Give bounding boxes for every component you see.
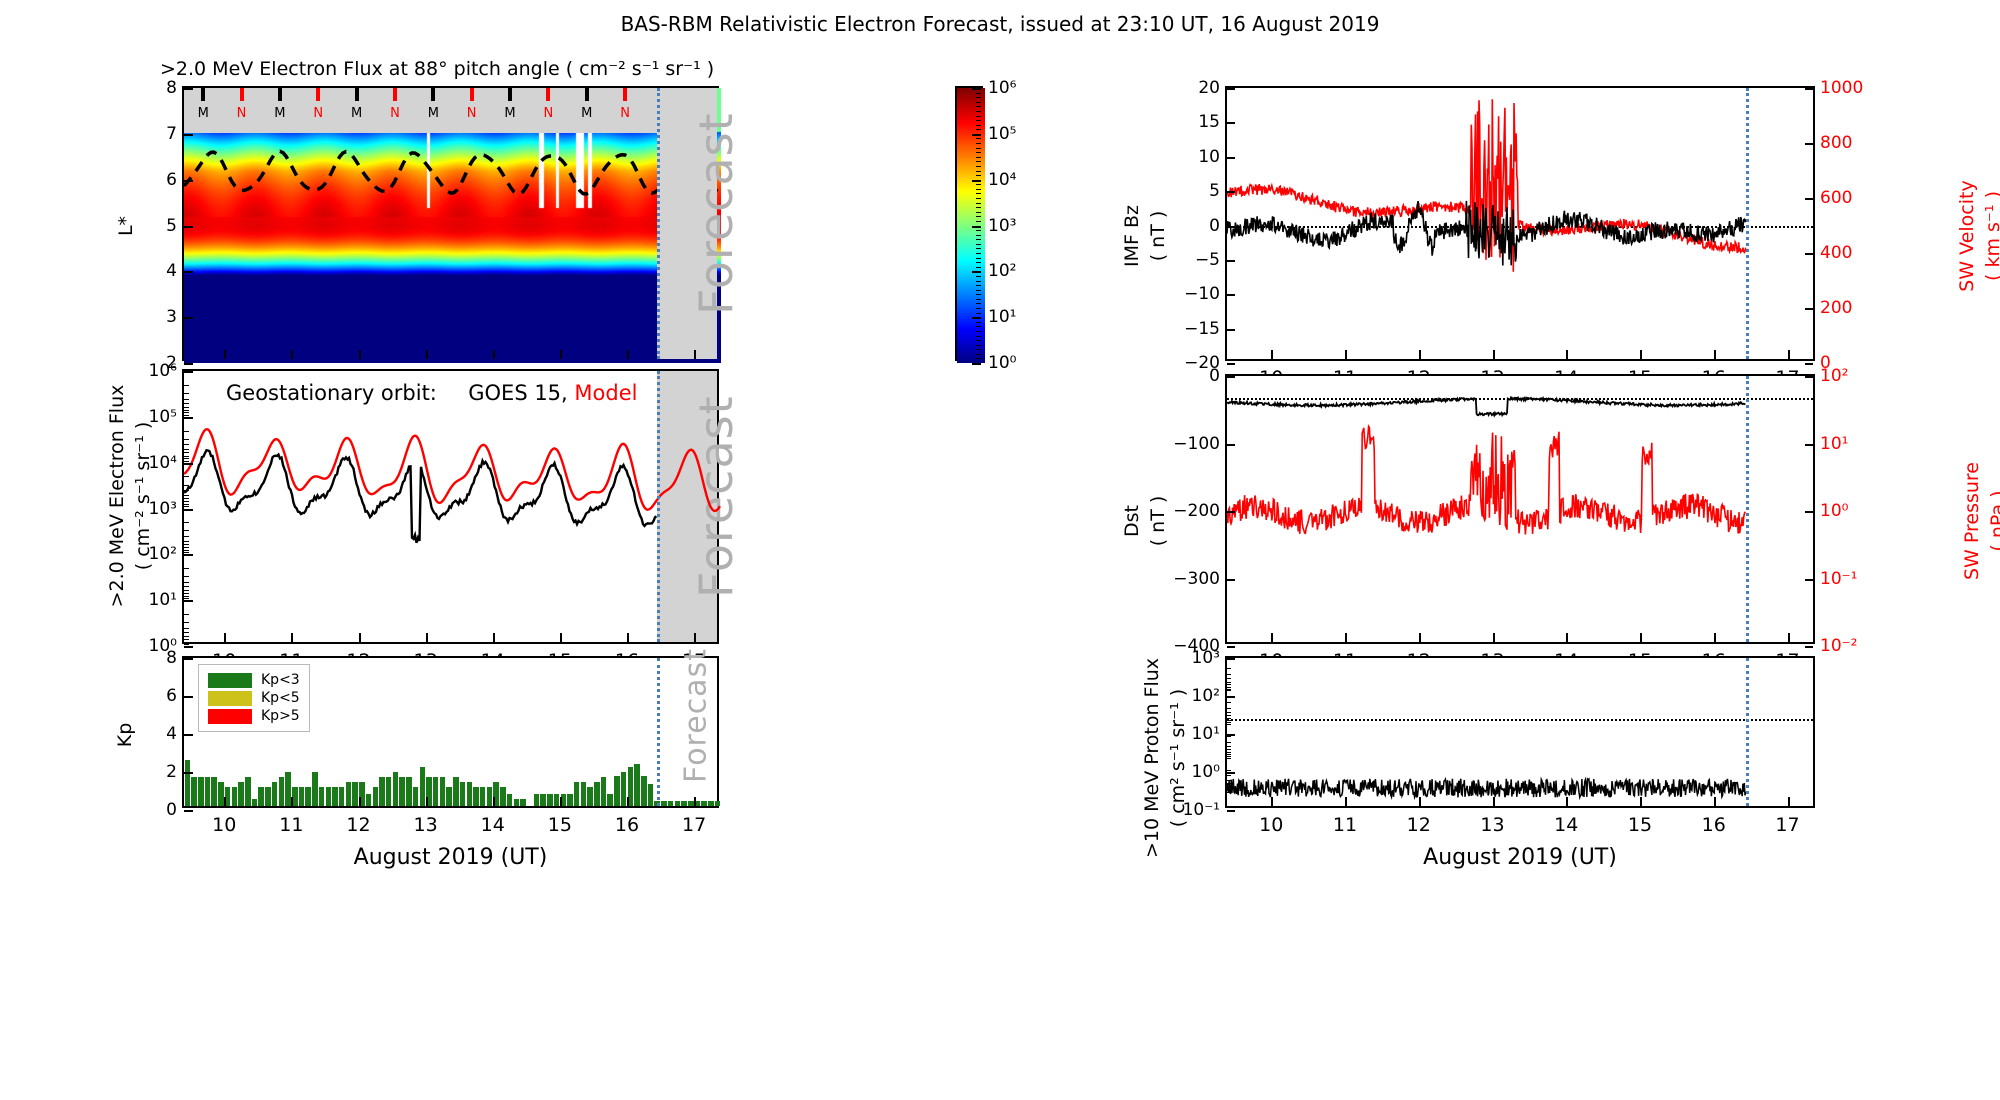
axis-tick-label: 10¹: [988, 307, 1016, 327]
kp-bar: [668, 801, 674, 806]
sw-velocity-axis-label-line2: ( km s⁻¹ ): [1980, 136, 2000, 336]
imf-bz-curves: [1227, 88, 1817, 363]
kp-bar: [352, 782, 358, 806]
imf-bz-axis-label-line2: ( nT ): [1145, 136, 1171, 336]
axis-tick-label: 16: [615, 814, 639, 836]
sw-pressure-axis-label-line2: ( nPa ): [1985, 421, 2000, 621]
axis-tick-label: 10²: [1820, 366, 1848, 386]
kp-bar: [205, 777, 211, 806]
forecast-divider-proton: [1746, 658, 1749, 806]
sw-velocity-axis-label: SW Velocity ( km s⁻¹ ): [1954, 136, 2000, 336]
imf-bz-axis-label-line1: IMF Bz: [1119, 136, 1145, 336]
kp-bar: [339, 787, 345, 806]
axis-tick-label: 15: [1198, 112, 1220, 132]
kp-bar: [634, 764, 640, 806]
kp-bar: [218, 782, 224, 806]
axis-tick-label: 10⁰: [988, 353, 1016, 373]
axis-tick-label: 11: [279, 814, 303, 836]
kp-legend: Kp<3 Kp<5 Kp>5: [198, 664, 310, 732]
kp-bar: [547, 794, 553, 806]
axis-tick-label: 0: [1209, 366, 1220, 386]
kp-bar: [252, 799, 258, 806]
kp-bar: [211, 777, 217, 806]
flux-map-title: >2.0 MeV Electron Flux at 88° pitch angl…: [160, 58, 714, 80]
axis-tick-label: 10⁶: [988, 78, 1016, 98]
plasmapause-curve: [184, 88, 721, 363]
kp-bar: [567, 794, 573, 806]
axis-tick-label: 13: [1480, 814, 1504, 836]
axis-tick-label: 17: [1775, 814, 1799, 836]
kp-bar: [621, 772, 627, 806]
kp-bar: [473, 787, 479, 806]
axis-tick-label: 10¹: [1192, 724, 1220, 744]
kp-bar: [386, 777, 392, 806]
imf-bz-axis-label: IMF Bz ( nT ): [1119, 136, 1171, 336]
kp-legend-label-high: Kp>5: [261, 708, 300, 724]
axis-tick-label: 10⁴: [988, 170, 1016, 190]
kp-bar: [312, 772, 318, 806]
geo-flux-axis-label-line1: >2.0 MeV Electron Flux: [104, 336, 130, 656]
kp-bar: [487, 787, 493, 806]
kp-bar: [460, 782, 466, 806]
kp-bar: [245, 777, 251, 806]
page-title: BAS-RBM Relativistic Electron Forecast, …: [0, 12, 2000, 36]
axis-tick-label: 5: [1209, 181, 1220, 201]
kp-bar: [641, 776, 647, 806]
xaxis-label-left: August 2019 (UT): [182, 845, 719, 870]
kp-bar: [191, 777, 197, 806]
axis-tick-label: 12: [1407, 814, 1431, 836]
axis-tick-label: 10⁵: [988, 124, 1016, 144]
axis-tick-label: 10²: [1192, 686, 1220, 706]
proton-flux-panel: 10³10²10¹10⁰10⁻¹1011121314151617: [1225, 656, 1815, 808]
axis-tick-label: 15: [548, 814, 572, 836]
kp-bar: [467, 782, 473, 806]
kp-bar: [520, 799, 526, 806]
axis-tick-label: 10: [1198, 147, 1220, 167]
kp-legend-swatch-mid: [208, 691, 252, 706]
kp-bar: [601, 777, 607, 806]
kp-bar: [366, 794, 372, 806]
kp-bar: [581, 782, 587, 806]
kp-bar: [346, 782, 352, 806]
axis-tick-label: 5: [166, 216, 177, 236]
axis-tick-label: 6: [166, 170, 177, 190]
forecast-divider-imf: [1746, 88, 1749, 359]
imf-bz-panel: 20151050−5−10−15−20100080060040020001011…: [1225, 86, 1815, 361]
kp-bar: [446, 787, 452, 806]
axis-tick-label: 10: [1259, 814, 1283, 836]
kp-bar: [258, 787, 264, 806]
sw-pressure-axis-label-line1: SW Pressure: [1959, 421, 1985, 621]
axis-tick-label: 17: [682, 814, 706, 836]
kp-bar: [406, 777, 412, 806]
axis-tick-label: 10: [212, 814, 236, 836]
kp-bar: [648, 784, 654, 806]
kp-bar: [265, 787, 271, 806]
kp-bar: [534, 794, 540, 806]
axis-tick-label: 4: [166, 724, 177, 744]
axis-tick-label: 800: [1820, 133, 1852, 153]
axis-tick-label: 13: [414, 814, 438, 836]
kp-bar: [453, 777, 459, 806]
axis-tick-label: 15: [1628, 814, 1652, 836]
kp-legend-label-low: Kp<3: [261, 672, 300, 688]
kp-legend-swatch-low: [208, 673, 252, 688]
kp-bar: [607, 794, 613, 806]
kp-bar: [238, 782, 244, 806]
sw-velocity-axis-label-line1: SW Velocity: [1954, 136, 1980, 336]
kp-bar: [500, 787, 506, 806]
kp-bar: [332, 787, 338, 806]
colorbar: 10⁶10⁵10⁴10³10²10¹10⁰: [955, 86, 983, 361]
axis-tick-label: 11: [1333, 814, 1357, 836]
axis-tick-label: −15: [1184, 319, 1220, 339]
kp-bar: [587, 787, 593, 806]
axis-tick-label: 600: [1820, 188, 1852, 208]
kp-bar: [614, 776, 620, 806]
kp-legend-label-mid: Kp<5: [261, 690, 300, 706]
kp-bar: [420, 767, 426, 806]
axis-tick-label: 2: [166, 762, 177, 782]
axis-tick-label: 10³: [1192, 648, 1220, 668]
kp-bar: [393, 772, 399, 806]
kp-axis-label: Kp: [114, 705, 136, 765]
geo-flux-axis-label-line2: ( cm⁻² s⁻¹ sr⁻¹ ): [130, 336, 156, 656]
geo-flux-axis-label: >2.0 MeV Electron Flux ( cm⁻² s⁻¹ sr⁻¹ ): [104, 336, 156, 656]
kp-legend-row: Kp>5: [208, 708, 300, 724]
axis-tick-label: 10⁻²: [1820, 636, 1857, 656]
kp-bar: [399, 777, 405, 806]
axis-tick-label: −100: [1173, 434, 1220, 454]
axis-tick-label: −200: [1173, 501, 1220, 521]
axis-tick-label: −10: [1184, 284, 1220, 304]
kp-bar: [379, 777, 385, 806]
dst-curves: [1227, 376, 1817, 646]
axis-tick-label: −300: [1173, 569, 1220, 589]
dst-axis-label-line1: Dst: [1119, 426, 1145, 616]
kp-legend-row: Kp<3: [208, 672, 300, 688]
kp-bar: [433, 777, 439, 806]
forecast-divider-geo: [657, 371, 660, 642]
axis-tick-label: 20: [1198, 78, 1220, 98]
kp-bar: [232, 787, 238, 806]
kp-bar: [272, 782, 278, 806]
geostationary-flux-panel: Forecast Geostationary orbit: GOES 15, M…: [182, 369, 719, 644]
axis-tick-label: 16: [1702, 814, 1726, 836]
axis-tick-label: −5: [1195, 250, 1220, 270]
kp-bar: [554, 794, 560, 806]
kp-legend-row: Kp<5: [208, 690, 300, 706]
kp-bar: [480, 787, 486, 806]
dst-panel: 0−100−200−300−40010²10¹10⁰10⁻¹10⁻²101112…: [1225, 374, 1815, 644]
sw-pressure-axis-label: SW Pressure ( nPa ): [1959, 421, 2000, 621]
kp-bar: [305, 787, 311, 806]
axis-tick-label: 10¹: [1820, 434, 1848, 454]
kp-bar: [514, 799, 520, 806]
kp-bar: [594, 782, 600, 806]
forecast-divider-heatmap: [657, 88, 660, 359]
kp-bar: [319, 787, 325, 806]
kp-bar: [326, 787, 332, 806]
proton-flux-curve: [1227, 658, 1817, 810]
kp-bar: [413, 787, 419, 806]
axis-tick-label: 8: [166, 648, 177, 668]
kp-bar: [661, 801, 667, 806]
axis-tick-label: 200: [1820, 298, 1852, 318]
electron-flux-heatmap-panel: MNMNMNMNMNMNMN Forecast 8765432101112131…: [182, 86, 719, 361]
axis-tick-label: 12: [346, 814, 370, 836]
kp-bar: [540, 794, 546, 806]
forecast-watermark-heatmap: Forecast: [689, 115, 743, 315]
kp-bar: [279, 777, 285, 806]
kp-bar: [373, 787, 379, 806]
lstar-axis-label: L*: [115, 196, 137, 256]
proton-flux-axis-label: >10 MeV Proton Flux ( cm² s⁻¹ sr⁻¹ ): [1139, 593, 1191, 923]
axis-tick-label: 400: [1820, 243, 1852, 263]
axis-tick-label: 0: [166, 800, 177, 820]
kp-panel: Forecast Kp<3 Kp<5 Kp>5 8642010111213141…: [182, 656, 719, 808]
axis-tick-label: 8: [166, 78, 177, 98]
forecast-divider-dst: [1746, 376, 1749, 642]
kp-bar: [507, 794, 513, 806]
axis-tick-label: 10⁻¹: [1820, 569, 1857, 589]
dst-axis-label: Dst ( nT ): [1119, 426, 1171, 616]
kp-bar: [198, 777, 204, 806]
axis-tick-label: 7: [166, 124, 177, 144]
dst-axis-label-line2: ( nT ): [1145, 426, 1171, 616]
axis-tick-label: 4: [166, 261, 177, 281]
axis-tick-label: 14: [1554, 814, 1578, 836]
forecast-watermark-kp: Forecast: [679, 616, 714, 816]
axis-tick-label: 10⁰: [1820, 501, 1848, 521]
axis-tick-label: 1000: [1820, 78, 1863, 98]
axis-tick-label: 0: [1209, 216, 1220, 236]
axis-tick-label: 6: [166, 686, 177, 706]
axis-tick-label: 10³: [988, 216, 1016, 236]
kp-bar: [285, 772, 291, 806]
kp-bar: [299, 787, 305, 806]
axis-tick-label: 10²: [988, 261, 1016, 281]
geo-flux-curves: [184, 371, 721, 646]
proton-flux-axis-label-line1: >10 MeV Proton Flux: [1139, 593, 1165, 923]
proton-flux-axis-label-line2: ( cm² s⁻¹ sr⁻¹ ): [1165, 593, 1191, 923]
kp-bar: [185, 760, 191, 806]
kp-bar: [440, 777, 446, 806]
kp-bar: [574, 782, 580, 806]
kp-legend-swatch-high: [208, 709, 252, 724]
kp-bar: [715, 801, 721, 806]
axis-tick-label: 10⁰: [1192, 762, 1220, 782]
xaxis-label-right: August 2019 (UT): [1225, 845, 1815, 870]
axis-tick-label: 3: [166, 307, 177, 327]
forecast-divider-kp: [657, 658, 660, 806]
axis-tick-label: 14: [481, 814, 505, 836]
